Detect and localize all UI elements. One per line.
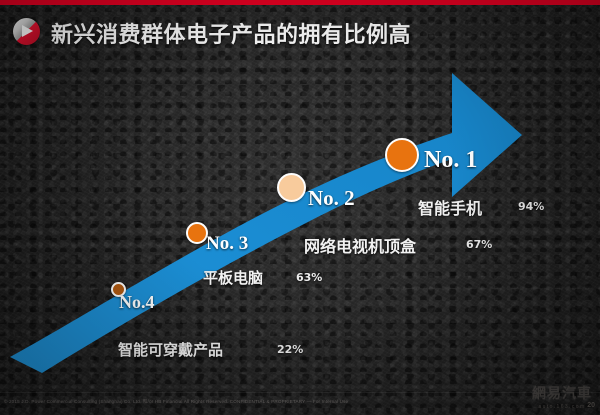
rank-label-no4: No.4: [119, 292, 155, 313]
rank-label-no1: No. 1: [424, 147, 477, 174]
rank-label-no3: No. 3: [206, 233, 248, 255]
marker-no3: [186, 222, 208, 244]
watermark-url: auto.163.com: [532, 404, 592, 410]
play-circle-logo-icon: [13, 18, 40, 45]
watermark: 網易汽車 auto.163.com: [532, 383, 592, 410]
value-label-no3: 63%: [296, 271, 322, 284]
category-label-no4: 智能可穿戴产品: [118, 339, 223, 360]
marker-no1: [385, 138, 419, 172]
slide-canvas: 新兴消费群体电子产品的拥有比例高 No. 1 智能手机 94% No. 2 网络…: [0, 0, 600, 415]
category-label-no2: 网络电视机顶盒: [304, 233, 416, 257]
footer-divider: [0, 392, 600, 393]
growth-arrow-graphic: [0, 55, 600, 385]
value-label-no2: 67%: [466, 238, 492, 251]
page-title: 新兴消费群体电子产品的拥有比例高: [51, 17, 411, 49]
copyright-notice: © 2015 J.D. Power Commercial Consulting …: [4, 399, 434, 405]
watermark-brand: 網易汽車: [532, 383, 592, 403]
category-label-no1: 智能手机: [418, 195, 482, 219]
play-triangle-icon: [22, 25, 33, 37]
page-number: 20: [587, 402, 595, 409]
category-label-no3: 平板电脑: [203, 267, 263, 288]
value-label-no4: 22%: [277, 343, 303, 356]
value-label-no1: 94%: [518, 200, 544, 213]
rank-label-no2: No. 2: [308, 186, 355, 211]
slide-header: 新兴消费群体电子产品的拥有比例高: [0, 5, 600, 55]
marker-no2: [277, 173, 306, 202]
chart-area: No. 1 智能手机 94% No. 2 网络电视机顶盒 67% No. 3 平…: [0, 55, 600, 385]
arrow-shape: [10, 73, 522, 373]
